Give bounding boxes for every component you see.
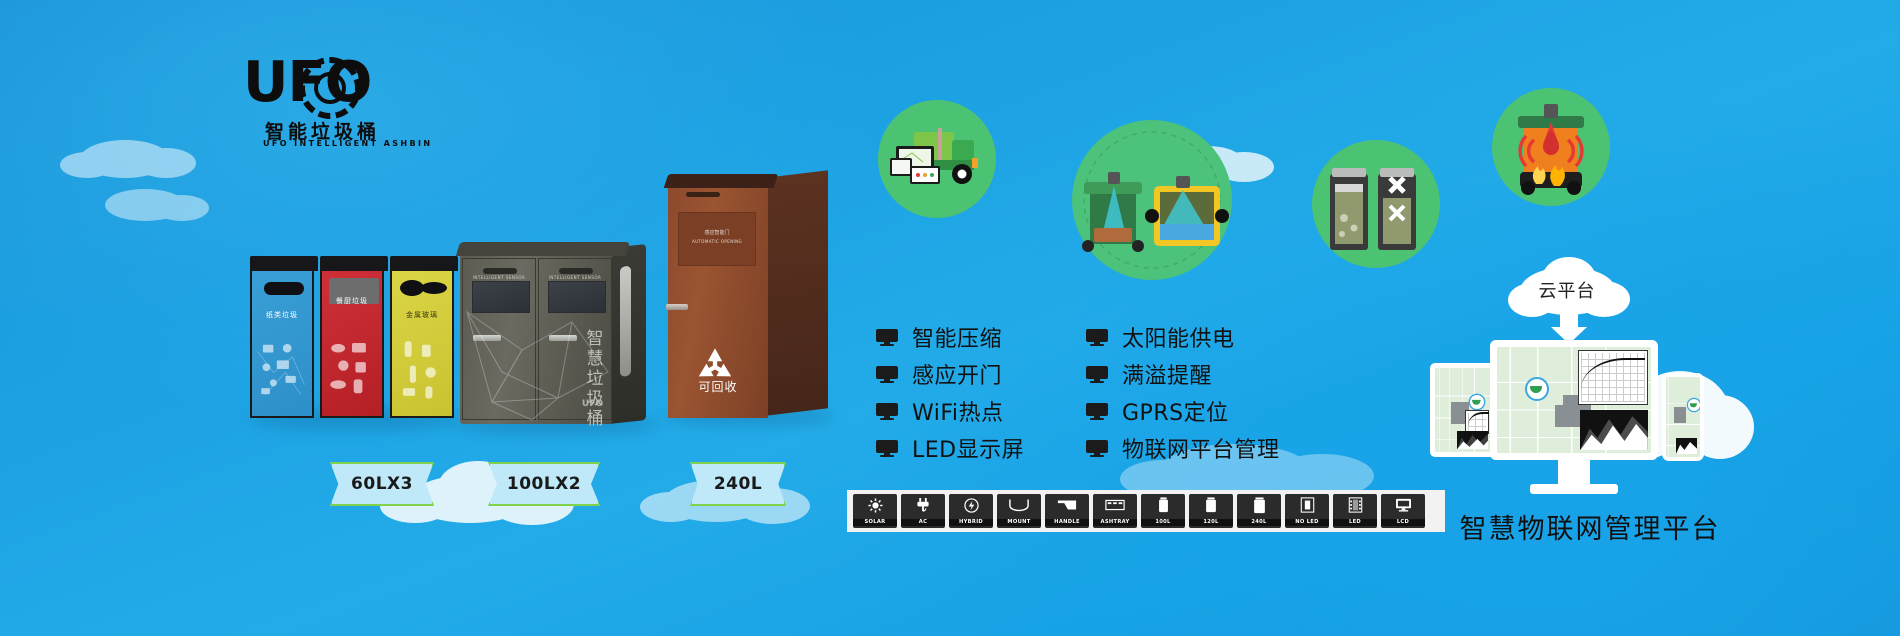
cloud-platform-badge: 云平台 xyxy=(1502,253,1632,315)
bin-three-compartment: 纸类垃圾 餐厨垃圾 xyxy=(250,268,455,418)
feature-item: GPRS定位 xyxy=(1086,396,1280,426)
monitor-bullet-icon xyxy=(1086,403,1108,420)
logo-english-name: UFO INTELLIGENT ASHBIN xyxy=(263,139,433,148)
compartment-label: 餐厨垃圾 xyxy=(322,296,382,306)
bin-panel-caption: INTELLIGENT SENSOR xyxy=(543,275,607,280)
bin-top xyxy=(664,174,779,188)
spec-icon-strip: SOLAR AC HYBRID MOUNT HANDLE xyxy=(847,490,1445,532)
monitor-base xyxy=(1530,484,1618,494)
spec-icon-240l: 240L xyxy=(1237,494,1281,528)
monitor-bullet-icon xyxy=(1086,329,1108,346)
compaction-bins-icon xyxy=(1312,140,1440,268)
iot-platform-illustration: 云平台 xyxy=(1430,245,1750,545)
feature-item: 感应开门 xyxy=(876,359,1024,389)
cloud-platform-label: 云平台 xyxy=(1502,277,1632,303)
bin-panel-caption-en: AUTOMATIC OPENING xyxy=(679,239,755,244)
building-graphic xyxy=(1674,407,1686,423)
plug-icon xyxy=(916,495,930,515)
monitor-bullet-icon xyxy=(876,440,898,457)
feature-column-right: 太阳能供电 满溢提醒 GPRS定位 物联网平台管理 xyxy=(1086,322,1280,470)
spec-icon-solar: SOLAR xyxy=(853,494,897,528)
spec-icon-label: HANDLE xyxy=(1045,519,1089,526)
bin-side-strip xyxy=(620,266,631,377)
feature-circle-fire-alarm xyxy=(1492,88,1610,206)
map-pin xyxy=(1687,398,1700,412)
fill-level-sensor-icon xyxy=(1072,120,1232,280)
capacity-badge-60lx3: 60LX3 xyxy=(330,462,434,506)
capacity-badge-100lx2: 100LX2 xyxy=(488,462,600,506)
bin-recycle-single: 感应智能门 AUTOMATIC OPENING 可回收 xyxy=(668,172,828,418)
download-arrow-icon xyxy=(1560,307,1578,333)
sun-icon xyxy=(868,495,883,515)
feature-label: WiFi热点 xyxy=(912,395,1004,427)
compartment-artwork xyxy=(396,328,448,410)
feature-item: 太阳能供电 xyxy=(1086,322,1280,352)
capacity-badge-240l: 240L xyxy=(690,462,786,506)
lcd-icon xyxy=(1395,495,1412,515)
truck-monitoring-icon xyxy=(878,100,996,218)
bin-compartment-metal-glass: 金属玻璃 xyxy=(390,268,454,418)
poster-canvas: UFO 智能垃圾桶 UFO INTELLIGENT ASHBIN 纸类垃圾 xyxy=(0,0,1900,636)
spec-icon-label: SOLAR xyxy=(853,519,897,526)
monitor-screen xyxy=(1497,347,1651,453)
feature-column-left: 智能压缩 感应开门 WiFi热点 LED显示屏 xyxy=(876,322,1024,470)
monitor-bullet-icon xyxy=(1086,440,1108,457)
bin-240l-icon xyxy=(1253,495,1266,515)
spec-icon-hybrid: HYBRID xyxy=(949,494,993,528)
spec-icon-ashtray: ASHTRAY xyxy=(1093,494,1137,528)
tablet-screen xyxy=(1435,368,1491,452)
mini-chart-dark xyxy=(1457,431,1488,449)
phone-screen xyxy=(1666,377,1700,457)
monitor-bullet-icon xyxy=(1086,366,1108,383)
compartment-label: 纸类垃圾 xyxy=(252,310,312,320)
spec-icon-label: MOUNT xyxy=(997,519,1041,526)
bin-polygon-graphic xyxy=(462,302,612,422)
feature-label: 物联网平台管理 xyxy=(1122,432,1280,464)
device-tablet xyxy=(1430,363,1496,457)
map-pin xyxy=(1525,377,1549,401)
bin-hood xyxy=(320,256,388,271)
feature-label: 满溢提醒 xyxy=(1122,358,1212,390)
cloud-decoration xyxy=(95,175,215,225)
bin-label: 可回收 xyxy=(668,378,768,395)
bin-vent xyxy=(559,268,593,274)
feature-item: WiFi热点 xyxy=(876,396,1024,426)
feature-label: LED显示屏 xyxy=(912,432,1024,464)
capacity-badge-label: 100LX2 xyxy=(507,474,581,494)
bin-side-panel xyxy=(610,244,646,424)
led-icon xyxy=(1348,495,1363,515)
brand-logo: UFO 智能垃圾桶 UFO INTELLIGENT ASHBIN xyxy=(243,55,363,150)
feature-circle-fill-level xyxy=(1072,120,1232,280)
bin-slot-icon xyxy=(264,282,304,295)
monitor-bullet-icon xyxy=(876,403,898,420)
ashtray-icon xyxy=(1105,495,1125,515)
spec-icon-label: ASHTRAY xyxy=(1093,519,1137,526)
cloud-decoration xyxy=(60,120,200,180)
bin-hood xyxy=(250,256,318,271)
compartment-artwork xyxy=(326,328,378,410)
bin-vent xyxy=(686,192,720,197)
monitor-bullet-icon xyxy=(876,366,898,383)
feature-item: 满溢提醒 xyxy=(1086,359,1280,389)
bin-100l-icon xyxy=(1158,495,1169,515)
spec-icon-no-led: NO LED xyxy=(1285,494,1329,528)
compartment-label: 金属玻璃 xyxy=(392,310,452,320)
handle-icon xyxy=(1057,495,1077,515)
feature-circle-compaction xyxy=(1312,140,1440,268)
spec-icon-label: 120L xyxy=(1189,519,1233,526)
feature-item: 物联网平台管理 xyxy=(1086,433,1280,463)
logo-ring-icon xyxy=(299,57,361,119)
feature-item: 智能压缩 xyxy=(876,322,1024,352)
mount-icon xyxy=(1009,495,1029,515)
feature-label: 感应开门 xyxy=(912,358,1002,390)
line-chart xyxy=(1578,350,1648,405)
compartment-artwork xyxy=(256,328,308,410)
feature-circle-fleet-monitoring xyxy=(878,100,996,218)
bin-smart-double: INTELLIGENT SENSOR INTELLIGENT SENSOR 智慧… xyxy=(460,242,645,424)
spec-icon-label: 240L xyxy=(1237,519,1281,526)
bin-display-panel: 感应智能门 AUTOMATIC OPENING xyxy=(678,212,756,266)
mini-chart-dark xyxy=(1676,438,1697,454)
bin-side-panel xyxy=(766,170,828,416)
spec-icon-handle: HANDLE xyxy=(1045,494,1089,528)
spec-icon-label: LED xyxy=(1333,519,1377,526)
bin-handle xyxy=(666,304,688,310)
bin-vent xyxy=(483,268,517,274)
bin-compartment-kitchen: 餐厨垃圾 xyxy=(320,268,384,418)
capacity-badge-label: 60LX3 xyxy=(351,474,413,494)
spec-icon-120l: 120L xyxy=(1189,494,1233,528)
feature-label: 太阳能供电 xyxy=(1122,321,1235,353)
spec-icon-label: 100L xyxy=(1141,519,1185,526)
spec-icon-mount: MOUNT xyxy=(997,494,1041,528)
hybrid-power-icon xyxy=(964,495,979,515)
feature-label: GPRS定位 xyxy=(1122,395,1229,427)
capacity-badge-label: 240L xyxy=(714,474,762,494)
monitor-neck xyxy=(1558,460,1590,486)
spec-icon-100l: 100L xyxy=(1141,494,1185,528)
bin-slot-icon xyxy=(400,280,448,296)
spec-icon-label: HYBRID xyxy=(949,519,993,526)
bin-panel-caption: INTELLIGENT SENSOR xyxy=(467,275,531,280)
device-monitor xyxy=(1490,340,1658,460)
spec-icon-label: AC xyxy=(901,519,945,526)
device-phone xyxy=(1662,373,1704,461)
bin-panel-caption-cn: 感应智能门 xyxy=(679,229,755,236)
spec-icon-ac: AC xyxy=(901,494,945,528)
building-graphic xyxy=(1555,405,1565,427)
bin-compartment-paper: 纸类垃圾 xyxy=(250,268,314,418)
area-chart xyxy=(1580,410,1648,450)
monitor-bullet-icon xyxy=(876,329,898,346)
spec-icon-led: LED xyxy=(1333,494,1377,528)
feature-item: LED显示屏 xyxy=(876,433,1024,463)
no-led-icon xyxy=(1300,495,1315,515)
spec-icon-label: NO LED xyxy=(1285,519,1329,526)
map-pin xyxy=(1469,394,1486,411)
feature-label: 智能压缩 xyxy=(912,321,1002,353)
bin-top xyxy=(456,242,630,256)
platform-caption: 智慧物联网管理平台 xyxy=(1410,507,1770,546)
bin-hood xyxy=(390,256,458,271)
bin-120l-icon xyxy=(1205,495,1217,515)
fire-alarm-icon xyxy=(1492,88,1610,206)
